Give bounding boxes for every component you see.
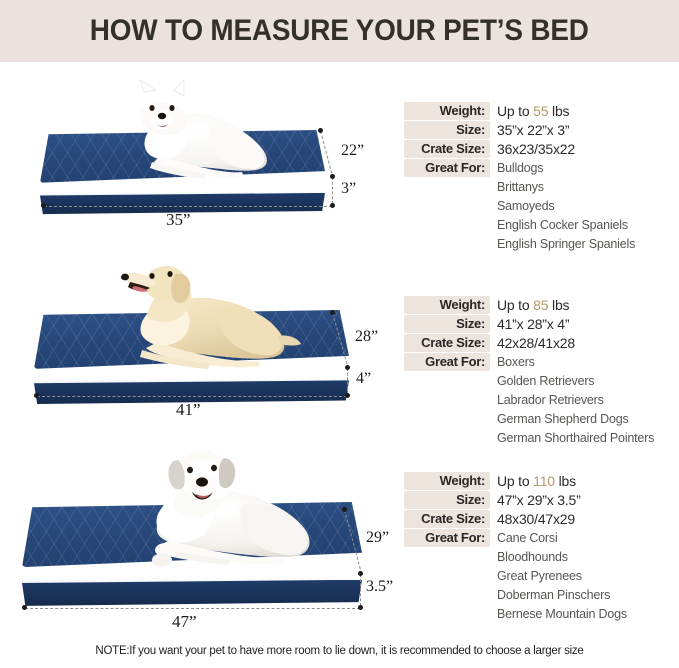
chip-spacer: [404, 548, 490, 566]
bed-illustration-large: 28” 4” 41”: [0, 248, 400, 430]
dim-dot-bottom-left: [34, 393, 39, 398]
breed-item: Doberman Pinschers: [490, 586, 610, 605]
spec-line-breed: Bloodhounds: [404, 548, 679, 567]
dim-dot-mid-right: [330, 174, 335, 179]
spec-label-crate-size: Crate Size:: [404, 334, 490, 352]
spec-line-size: Size: 35”x 22”x 3”: [404, 121, 679, 140]
weight-prefix: Up to: [497, 103, 533, 119]
spec-line-breed: Golden Retrievers: [404, 372, 679, 391]
spec-label-size: Size:: [404, 315, 490, 333]
spec-line-breed: Great Pyrenees: [404, 567, 679, 586]
weight-number: 55: [533, 103, 548, 119]
spec-label-great-for: Great For:: [404, 353, 490, 371]
dim-dot-bottom-right: [330, 203, 335, 208]
spec-panel-medium: Weight: Up to 55 lbs Size: 35”x 22”x 3” …: [404, 102, 679, 254]
spec-line-weight: Weight: Up to 85 lbs: [404, 296, 679, 315]
bed-graphic: [34, 310, 349, 405]
breed-item: English Cocker Spaniels: [490, 216, 628, 235]
dim-dot-bottom-right: [358, 605, 363, 610]
chip-spacer: [404, 567, 490, 585]
breed-item: German Shepherd Dogs: [490, 410, 629, 429]
breed-item: Samoyeds: [490, 197, 554, 216]
spec-value-weight: Up to 85 lbs: [490, 296, 569, 314]
chip-spacer: [404, 586, 490, 604]
header-band: HOW TO MEASURE YOUR PET’S BED: [0, 0, 679, 62]
dim-label-width: 22”: [341, 142, 364, 160]
weight-prefix: Up to: [497, 297, 533, 313]
dim-line-height: [360, 574, 361, 606]
size-row-xlarge: 29” 3.5” 47” Weight: Up to 110 lbs Size:…: [0, 432, 679, 637]
footer-note: NOTE:If you want your pet to have more r…: [0, 645, 679, 657]
bed-illustration-medium: 22” 3” 35”: [0, 70, 400, 245]
spec-label-size: Size:: [404, 121, 490, 139]
dim-label-height: 3.5”: [366, 578, 393, 596]
bed-graphic: [22, 502, 362, 607]
spec-line-crate-size: Crate Size: 48x30/47x29: [404, 510, 679, 529]
spec-panel-large: Weight: Up to 85 lbs Size: 41”x 28”x 4” …: [404, 296, 679, 448]
weight-suffix: lbs: [548, 297, 569, 313]
spec-value-size: 41”x 28”x 4”: [490, 315, 569, 333]
spec-label-great-for: Great For:: [404, 529, 490, 547]
spec-value-crate-size: 42x28/41x28: [490, 334, 575, 352]
spec-value-size: 47”x 29”x 3.5”: [490, 491, 581, 509]
size-row-medium: 22” 3” 35” Weight: Up to 55 lbs Size: 35…: [0, 70, 679, 245]
dim-dot-mid-right: [345, 365, 350, 370]
breed-item: Cane Corsi: [490, 529, 558, 548]
dim-label-width: 29”: [366, 529, 389, 547]
dog-illustration-great-pyrenees: [118, 444, 330, 584]
weight-number: 85: [533, 297, 548, 313]
spec-label-crate-size: Crate Size:: [404, 510, 490, 528]
dim-dot-bottom-left: [22, 605, 27, 610]
chip-spacer: [404, 197, 490, 215]
spec-label-weight: Weight:: [404, 472, 490, 490]
chip-spacer: [404, 391, 490, 409]
dim-dot-bottom-left: [41, 203, 46, 208]
spec-label-weight: Weight:: [404, 296, 490, 314]
dim-label-height: 4”: [356, 370, 371, 388]
dim-label-length: 41”: [176, 400, 201, 420]
breed-item: Bloodhounds: [490, 548, 568, 567]
spec-label-size: Size:: [404, 491, 490, 509]
spec-line-weight: Weight: Up to 110 lbs: [404, 472, 679, 491]
weight-suffix: lbs: [555, 473, 576, 489]
spec-line-breed: Labrador Retrievers: [404, 391, 679, 410]
dog-illustration-samoyed: [102, 78, 282, 194]
spec-panel-xlarge: Weight: Up to 110 lbs Size: 47”x 29”x 3.…: [404, 472, 679, 624]
spec-value-weight: Up to 110 lbs: [490, 472, 576, 490]
spec-line-size: Size: 41”x 28”x 4”: [404, 315, 679, 334]
dim-line-height: [347, 368, 348, 394]
spec-label-weight: Weight:: [404, 102, 490, 120]
chip-spacer: [404, 605, 490, 623]
spec-label-crate-size: Crate Size:: [404, 140, 490, 158]
dim-line-length: [44, 206, 332, 207]
spec-line-crate-size: Crate Size: 42x28/41x28: [404, 334, 679, 353]
dim-dot-top-right: [318, 128, 323, 133]
dim-dot-top-right: [342, 507, 347, 512]
dim-dot-mid-right: [358, 571, 363, 576]
bed-illustration-xlarge: 29” 3.5” 47”: [0, 432, 400, 637]
spec-line-breed: English Cocker Spaniels: [404, 216, 679, 235]
breed-item: Golden Retrievers: [490, 372, 594, 391]
spec-line-breed: German Shepherd Dogs: [404, 410, 679, 429]
chip-spacer: [404, 178, 490, 196]
page-title: HOW TO MEASURE YOUR PET’S BED: [90, 14, 589, 48]
chip-spacer: [404, 216, 490, 234]
dim-dot-bottom-right: [345, 393, 350, 398]
spec-line-great-for: Great For: Boxers: [404, 353, 679, 372]
bed-graphic: [40, 130, 325, 215]
breed-item: Boxers: [490, 353, 535, 372]
spec-label-great-for: Great For:: [404, 159, 490, 177]
dim-dot-top-right: [330, 310, 335, 315]
dog-illustration-golden-retriever: [92, 260, 304, 384]
spec-line-breed: Bernese Mountain Dogs: [404, 605, 679, 624]
spec-line-weight: Weight: Up to 55 lbs: [404, 102, 679, 121]
spec-line-size: Size: 47”x 29”x 3.5”: [404, 491, 679, 510]
weight-suffix: lbs: [548, 103, 569, 119]
breed-item: Brittanys: [490, 178, 544, 197]
spec-value-crate-size: 36x23/35x22: [490, 140, 575, 158]
spec-line-great-for: Great For: Cane Corsi: [404, 529, 679, 548]
spec-line-great-for: Great For: Bulldogs: [404, 159, 679, 178]
spec-line-crate-size: Crate Size: 36x23/35x22: [404, 140, 679, 159]
weight-number: 110: [533, 473, 555, 489]
dim-label-length: 35”: [166, 210, 191, 230]
weight-prefix: Up to: [497, 473, 533, 489]
chip-spacer: [404, 410, 490, 428]
breed-item: Bernese Mountain Dogs: [490, 605, 627, 624]
dim-label-width: 28”: [355, 328, 378, 346]
spec-line-breed: Doberman Pinschers: [404, 586, 679, 605]
spec-line-breed: Brittanys: [404, 178, 679, 197]
spec-value-size: 35”x 22”x 3”: [490, 121, 569, 139]
dim-line-height: [332, 177, 333, 204]
spec-value-weight: Up to 55 lbs: [490, 102, 569, 120]
dim-label-length: 47”: [172, 612, 197, 632]
breed-item: Labrador Retrievers: [490, 391, 604, 410]
breed-item: Great Pyrenees: [490, 567, 582, 586]
size-row-large: 28” 4” 41” Weight: Up to 85 lbs Size: 41…: [0, 248, 679, 430]
dim-line-length: [25, 608, 360, 609]
dim-label-height: 3”: [341, 180, 356, 198]
spec-line-breed: Samoyeds: [404, 197, 679, 216]
spec-value-crate-size: 48x30/47x29: [490, 510, 575, 528]
breed-item: Bulldogs: [490, 159, 543, 178]
chip-spacer: [404, 372, 490, 390]
dim-line-length: [37, 396, 347, 397]
